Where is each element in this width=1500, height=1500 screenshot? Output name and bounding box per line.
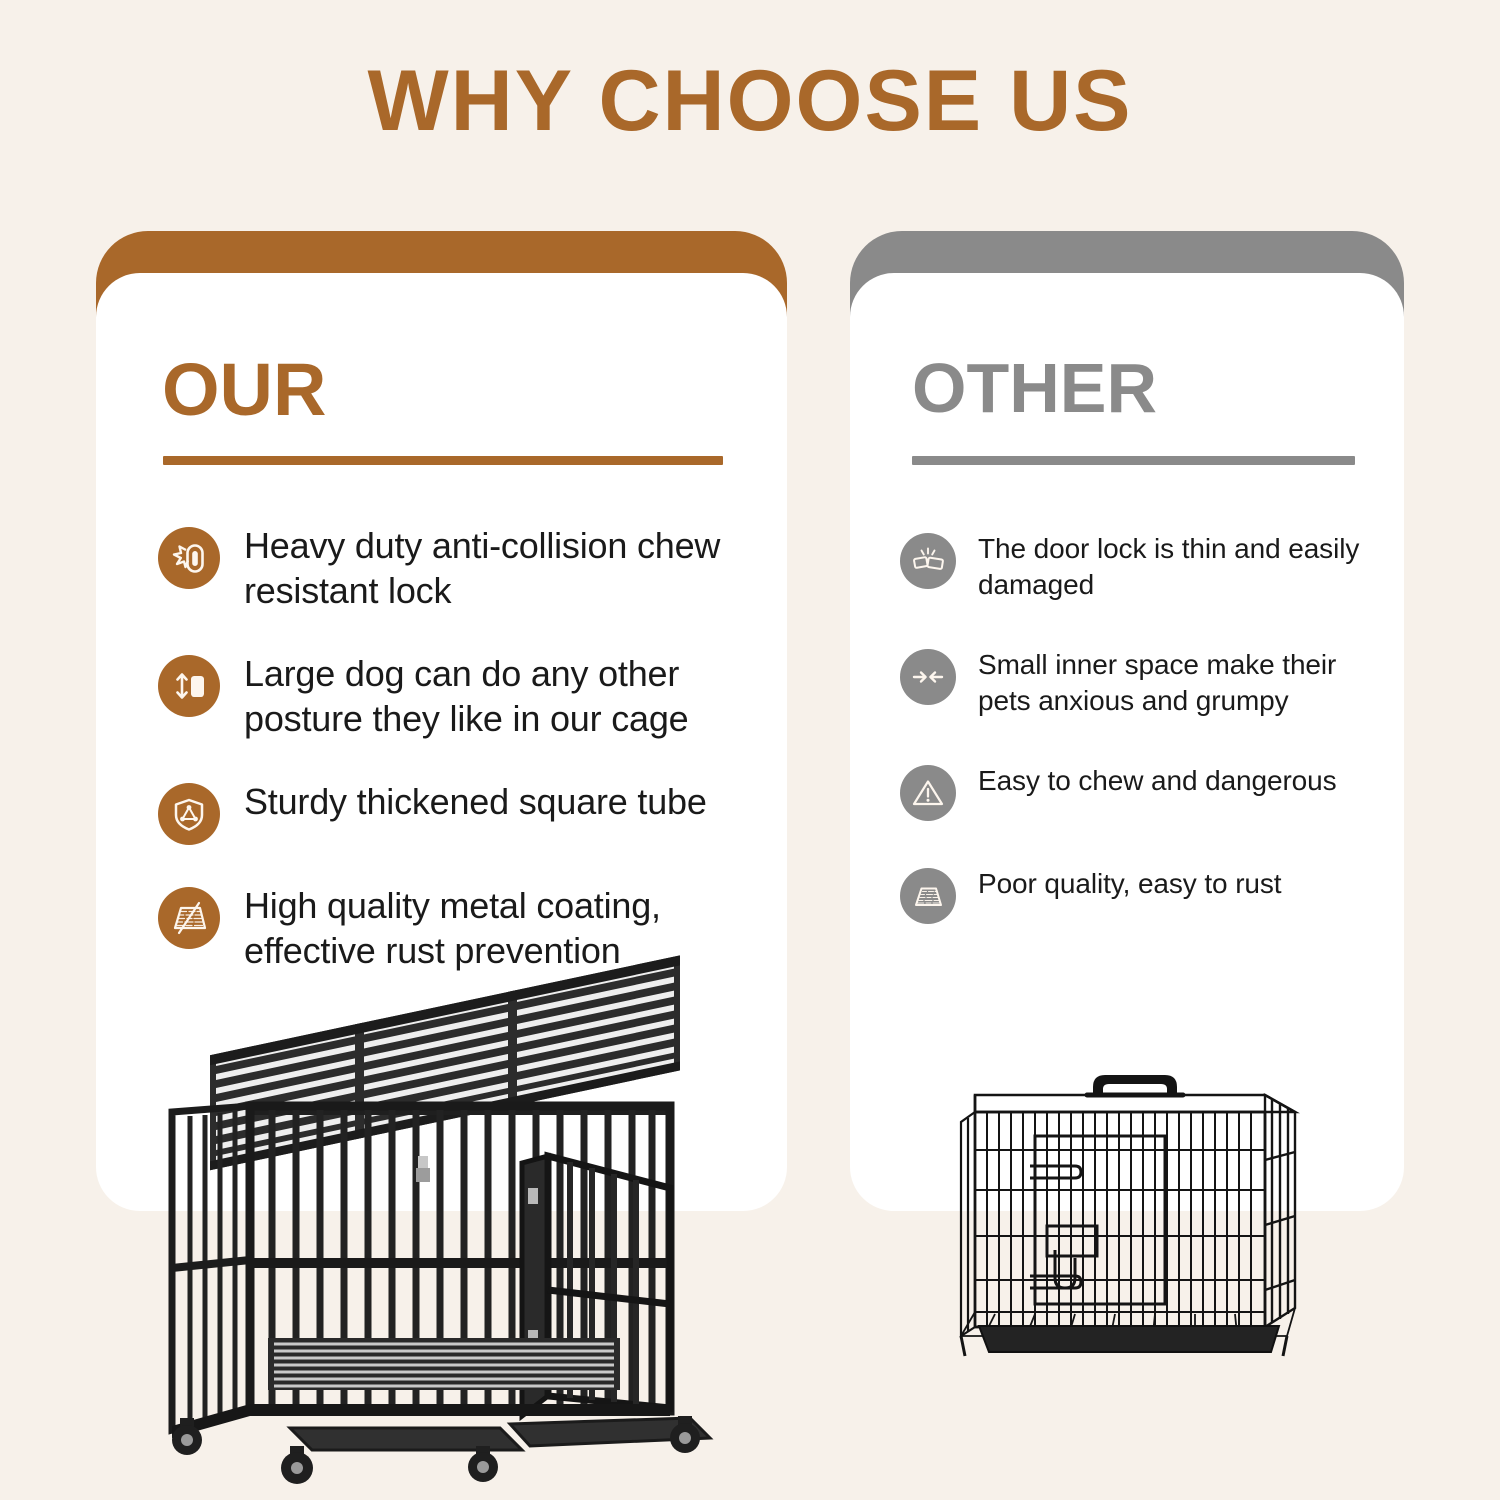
rusty-plate-icon (900, 868, 956, 924)
list-item-label: Poor quality, easy to rust (978, 866, 1281, 902)
anti-collision-lock-icon (158, 527, 220, 589)
vertical-space-arrow-icon (158, 655, 220, 717)
list-item: Heavy duty anti-collision chew resistant… (158, 523, 758, 613)
list-item: Easy to chew and dangerous (900, 763, 1380, 821)
list-item: Sturdy thickened square tube (158, 779, 758, 845)
list-item-label: Large dog can do any other posture they … (244, 651, 758, 741)
wire-crate-image (935, 1040, 1335, 1380)
list-item: Small inner space make their pets anxiou… (900, 647, 1380, 718)
list-item: The door lock is thin and easily damaged (900, 531, 1380, 602)
warning-triangle-icon (900, 765, 956, 821)
list-item: Large dog can do any other posture they … (158, 651, 758, 741)
other-feature-list: The door lock is thin and easily damaged (900, 531, 1380, 969)
our-heading-rule (163, 456, 723, 465)
list-item-label: Heavy duty anti-collision chew resistant… (244, 523, 758, 613)
narrow-space-arrows-icon (900, 649, 956, 705)
list-item-label: Small inner space make their pets anxiou… (978, 647, 1380, 718)
broken-lock-icon (900, 533, 956, 589)
list-item-label: Easy to chew and dangerous (978, 763, 1337, 799)
other-heading-rule (912, 456, 1355, 465)
heavy-duty-crate-image (150, 938, 770, 1498)
list-item-label: The door lock is thin and easily damaged (978, 531, 1380, 602)
list-item-label: Sturdy thickened square tube (244, 779, 707, 824)
page-title: WHY CHOOSE US (0, 56, 1500, 146)
other-heading: OTHER (912, 353, 1157, 423)
shield-strength-icon (158, 783, 220, 845)
list-item: Poor quality, easy to rust (900, 866, 1380, 924)
our-heading: OUR (162, 353, 326, 427)
comparison-infographic: WHY CHOOSE US OUR Heavy duty anti-collis… (0, 0, 1500, 1500)
